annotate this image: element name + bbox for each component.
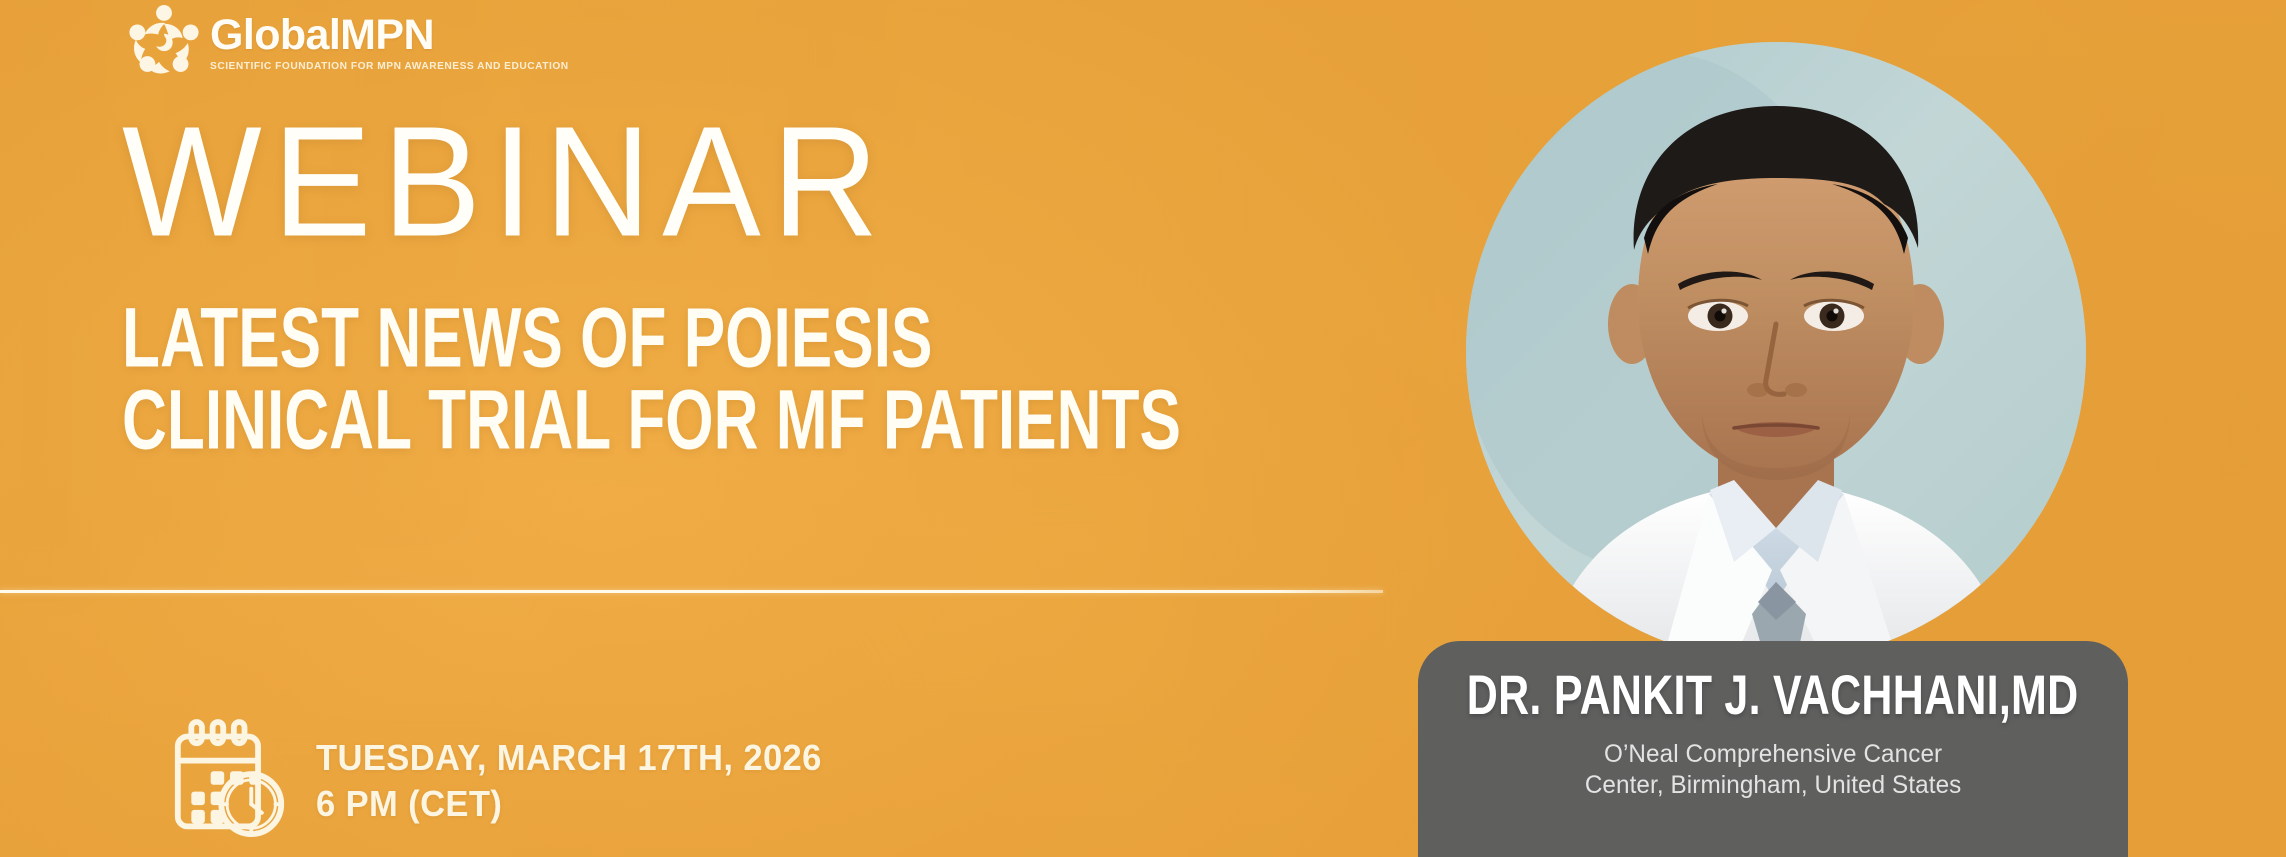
speaker-affiliation-line-1: O’Neal Comprehensive Cancer	[1585, 739, 1962, 770]
schedule-block: TUESDAY, MARCH 17TH, 2026 6 PM (CET)	[172, 718, 843, 840]
calendar-clock-icon	[172, 718, 288, 840]
brand-tagline: SCIENTIFIC FOUNDATION FOR MPN AWARENESS …	[210, 61, 569, 72]
speaker-portrait	[1466, 42, 2086, 662]
title-line-2: CLINICAL TRIAL FOR MF PATIENTS	[122, 380, 1181, 459]
webinar-kicker: WEBINAR	[122, 104, 1383, 261]
webinar-banner: GlobalMPN SCIENTIFIC FOUNDATION FOR MPN …	[0, 0, 2286, 857]
headline-block: WEBINAR LATEST NEWS OF POIESIS CLINICAL …	[122, 104, 1383, 449]
schedule-date: TUESDAY, MARCH 17TH, 2026	[316, 738, 822, 778]
brand-name: GlobalMPN	[210, 14, 569, 58]
divider	[0, 590, 1383, 593]
speaker-affiliation: O’Neal Comprehensive Cancer Center, Birm…	[1585, 739, 1962, 800]
globalmpn-pinwheel-logo-icon	[128, 4, 200, 78]
speaker-affiliation-line-2: Center, Birmingham, United States	[1585, 770, 1962, 801]
speaker-portrait-image	[1466, 42, 2086, 662]
brand-logo: GlobalMPN SCIENTIFIC FOUNDATION FOR MPN …	[128, 4, 569, 78]
speaker-info-panel: DR. PANKIT J. VACHHANI,MD O’Neal Compreh…	[1418, 641, 2128, 857]
schedule-time: 6 PM (CET)	[316, 784, 822, 824]
title-line-1: LATEST NEWS OF POIESIS	[122, 298, 1181, 377]
speaker-name: DR. PANKIT J. VACHHANI,MD	[1467, 667, 2079, 723]
